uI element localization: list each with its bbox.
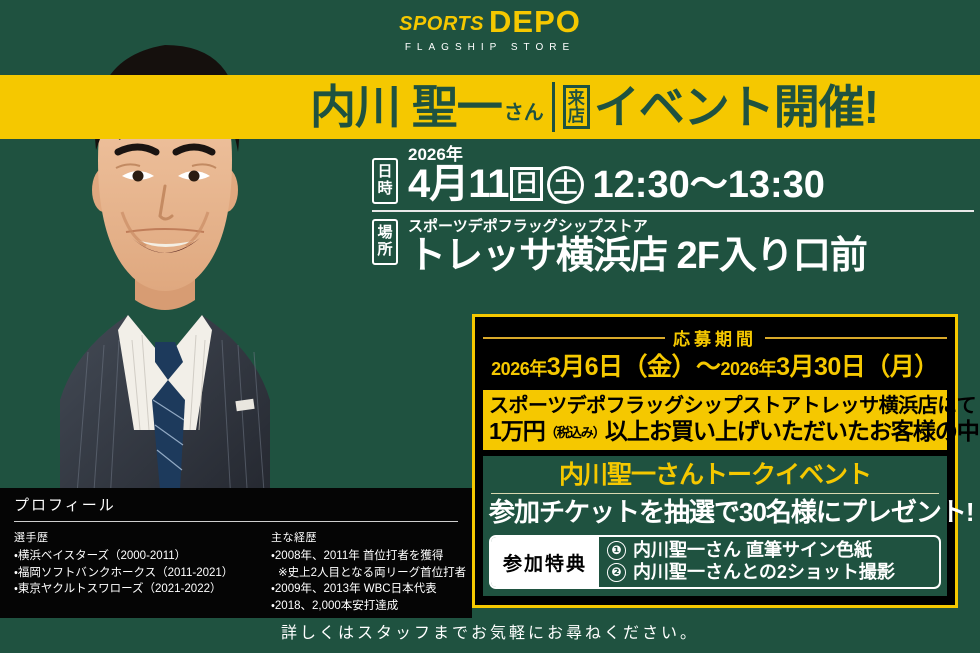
logo-tagline: FLAGSHIP STORE: [0, 42, 980, 53]
condition-amount: 1万円: [489, 418, 545, 444]
career-item: ・東京ヤクルトスワローズ（2021-2022）: [14, 581, 257, 598]
venue-label-line1: 場: [377, 225, 393, 242]
perk-item: ❷内川聖一さんとの2ショット撮影: [607, 562, 933, 584]
profile-highlights-column: 主な経歴 ・2008年、2011年 首位打者を獲得 ※史上2人目となる両リーグ首…: [271, 529, 466, 615]
campaign-period-header: 応募期間: [483, 325, 947, 350]
venue-row: 場 所 スポーツデポフラッグシップストア トレッサ横浜店 2F入り口前: [372, 219, 974, 277]
guest-name: 内川 聖一: [310, 84, 502, 130]
highlight-note: ※史上2人目となる両リーグ首位打者: [271, 565, 466, 582]
campaign-end-year: 2026年: [721, 359, 777, 379]
highlight-item: ・2008年、2011年 首位打者を獲得: [271, 548, 466, 565]
logo-wordmark: SPORTSDEPO: [0, 6, 980, 37]
event-year: 2026年: [408, 146, 825, 163]
highlights-heading: 主な経歴: [271, 529, 466, 545]
campaign-panel: 応募期間 2026年3月6日（金）〜2026年3月30日（月） スポーツデポフラ…: [472, 314, 958, 608]
event-time: 12:30〜13:30: [593, 164, 825, 206]
prize-description: 参加チケットを抽選で30名様にプレゼント!: [489, 498, 941, 528]
campaign-end-date: 3月30日（月）: [776, 353, 939, 381]
campaign-range-mark: 〜: [696, 353, 721, 381]
condition-line-1: スポーツデポフラッグシップストアトレッサ横浜店にて: [489, 395, 941, 418]
datetime-row: 日 時 2026年 4月11日土12:30〜13:30: [372, 146, 974, 204]
venue-store-name: トレッサ横浜店 2F入り口前: [408, 237, 867, 277]
event-day-unit: 日: [510, 167, 543, 201]
logo-sports-text: SPORTS: [399, 13, 484, 35]
venue-store-brand: スポーツデポフラッグシップストア: [408, 219, 867, 234]
event-poster: SPORTSDEPO FLAGSHIP STORE 内川 聖一 さん 来 店 イ…: [0, 0, 980, 653]
brand-logo: SPORTSDEPO FLAGSHIP STORE: [0, 6, 980, 53]
campaign-prize-box: 内川聖一さんトークイベント 参加チケットを抽選で30名様にプレゼント! 参加特典…: [483, 456, 947, 597]
event-day: 4月11: [408, 162, 509, 206]
guest-honorific: さん: [504, 103, 544, 124]
profile-title: プロフィール: [14, 497, 458, 515]
perk-text: 内川聖一さんとの2ショット撮影: [633, 562, 895, 582]
perk-item: ❶内川聖一さん 直筆サイン色紙: [607, 540, 933, 562]
event-date-line: 4月11日土12:30〜13:30: [408, 164, 825, 204]
datetime-label-tag: 日 時: [372, 158, 398, 204]
datetime-label-line1: 日: [377, 164, 393, 181]
profile-divider: [14, 521, 458, 522]
career-item: ・福岡ソフトバンクホークス（2011-2021）: [14, 565, 257, 582]
condition-rest: 以上お買い上げいただいたお客様の中から: [605, 418, 980, 444]
headline-divider: [552, 82, 555, 132]
profile-panel: プロフィール 選手歴 ・横浜ベイスターズ（2000-2011） ・福岡ソフトバン…: [0, 488, 472, 618]
perks-block: 参加特典 ❶内川聖一さん 直筆サイン色紙 ❷内川聖一さんとの2ショット撮影: [489, 535, 941, 590]
campaign-condition-box: スポーツデポフラッグシップストアトレッサ横浜店にて 1万円（税込み）以上お買い上…: [483, 390, 947, 450]
perks-label: 参加特典: [491, 537, 599, 588]
visit-badge-line1: 来: [568, 90, 585, 107]
campaign-header-rule-right: [765, 337, 947, 339]
perk-number-icon: ❶: [607, 541, 626, 560]
datetime-values: 2026年 4月11日土12:30〜13:30: [408, 146, 825, 204]
visit-badge: 来 店: [563, 85, 590, 129]
career-heading: 選手歴: [14, 529, 257, 545]
profile-columns: 選手歴 ・横浜ベイスターズ（2000-2011） ・福岡ソフトバンクホークス（2…: [14, 529, 458, 615]
details-divider: [372, 210, 974, 212]
highlight-item: ・2018、2,000本安打達成: [271, 598, 466, 615]
perks-list: ❶内川聖一さん 直筆サイン色紙 ❷内川聖一さんとの2ショット撮影: [599, 537, 939, 588]
campaign-header-rule-left: [483, 337, 665, 339]
condition-tax-note: （税込み）: [545, 425, 605, 440]
headline-band: 内川 聖一 さん 来 店 イベント開催!: [310, 75, 974, 139]
venue-values: スポーツデポフラッグシップストア トレッサ横浜店 2F入り口前: [408, 219, 867, 277]
perk-number-icon: ❷: [607, 563, 626, 582]
campaign-period-dates: 2026年3月6日（金）〜2026年3月30日（月）: [483, 354, 947, 382]
profile-career-column: 選手歴 ・横浜ベイスターズ（2000-2011） ・福岡ソフトバンクホークス（2…: [14, 529, 257, 615]
perk-text: 内川聖一さん 直筆サイン色紙: [633, 540, 872, 560]
footer-note: 詳しくはスタッフまでお気軽にお尋ねください。: [0, 619, 980, 643]
career-item: ・横浜ベイスターズ（2000-2011）: [14, 548, 257, 565]
visit-badge-line2: 店: [568, 107, 585, 124]
condition-line-2: 1万円（税込み）以上お買い上げいただいたお客様の中から: [489, 418, 941, 444]
highlight-item: ・2009年、2013年 WBC日本代表: [271, 581, 466, 598]
campaign-period-title: 応募期間: [673, 325, 757, 350]
campaign-start-date: 3月6日（金）: [547, 353, 696, 381]
venue-label-line2: 所: [377, 242, 393, 259]
logo-depo-text: DEPO: [489, 4, 581, 39]
datetime-label-line2: 時: [377, 181, 393, 198]
event-headline-text: イベント開催!: [594, 84, 878, 130]
prize-divider: [491, 493, 939, 494]
event-weekday: 土: [547, 166, 584, 204]
venue-label-tag: 場 所: [372, 219, 398, 265]
campaign-start-year: 2026年: [491, 359, 547, 379]
prize-event-name: 内川聖一さんトークイベント: [489, 461, 941, 490]
event-details: 日 時 2026年 4月11日土12:30〜13:30 場 所 スポーツデポフラ…: [372, 146, 974, 277]
